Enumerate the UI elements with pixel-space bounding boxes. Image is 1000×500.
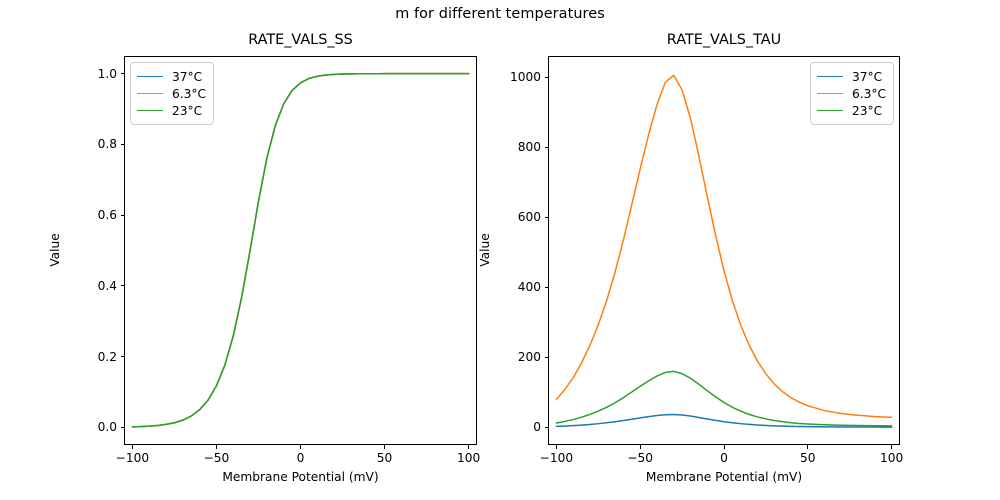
- subplot-title-tau: RATE_VALS_TAU: [548, 32, 900, 48]
- y-tick-mark: [121, 427, 125, 428]
- y-tick-label: 0.8: [74, 137, 117, 151]
- legend-swatch-37c: [137, 76, 163, 77]
- x-tick-label: −100: [116, 451, 149, 465]
- legend-swatch-23c: [817, 110, 843, 111]
- x-tick-label: 0: [720, 451, 728, 465]
- legend-entry: 37°C: [817, 68, 886, 85]
- legend-label-37c: 37°C: [852, 70, 882, 84]
- x-tick-label: 100: [457, 451, 480, 465]
- series-line: [132, 74, 468, 427]
- y-tick-mark: [121, 215, 125, 216]
- axes-rate-vals-ss: RATE_VALS_SS 37°C 6.3°C 23°C: [124, 56, 477, 445]
- y-tick-label: 0: [498, 420, 541, 434]
- xlabel-tau: Membrane Potential (mV): [548, 470, 900, 484]
- y-tick-mark: [121, 285, 125, 286]
- y-tick-mark: [121, 73, 125, 74]
- legend-entry: 23°C: [817, 102, 886, 119]
- y-tick-mark: [545, 147, 549, 148]
- x-tick-label: −100: [540, 451, 573, 465]
- y-tick-mark: [545, 427, 549, 428]
- legend-label-37c: 37°C: [172, 70, 202, 84]
- x-tick-mark: [891, 445, 892, 449]
- y-tick-label: 0.6: [74, 208, 117, 222]
- x-tick-mark: [384, 445, 385, 449]
- legend-label-6-3c: 6.3°C: [172, 87, 206, 101]
- y-tick-mark: [545, 217, 549, 218]
- legend-label-23c: 23°C: [852, 104, 882, 118]
- x-tick-label: −50: [627, 451, 653, 465]
- legend-tau[interactable]: 37°C 6.3°C 23°C: [810, 62, 894, 125]
- legend-label-23c: 23°C: [172, 104, 202, 118]
- y-tick-label: 400: [498, 280, 541, 294]
- y-tick-label: 0.4: [74, 279, 117, 293]
- y-tick-mark: [545, 287, 549, 288]
- x-tick-label: −50: [204, 451, 230, 465]
- ylabel-tau: Value: [478, 190, 492, 310]
- x-tick-label: 50: [377, 451, 393, 465]
- legend-entry: 37°C: [137, 68, 206, 85]
- x-tick-label: 0: [297, 451, 305, 465]
- y-tick-label: 800: [498, 140, 541, 154]
- subplot-title-ss: RATE_VALS_SS: [124, 32, 477, 48]
- series-line: [556, 75, 891, 417]
- ylabel-ss: Value: [48, 190, 62, 310]
- x-tick-label: 50: [800, 451, 816, 465]
- x-tick-mark: [132, 445, 133, 449]
- y-tick-label: 600: [498, 210, 541, 224]
- legend-entry: 6.3°C: [817, 85, 886, 102]
- legend-swatch-6-3c: [817, 93, 843, 94]
- y-tick-mark: [545, 77, 549, 78]
- y-tick-mark: [121, 356, 125, 357]
- legend-label-6-3c: 6.3°C: [852, 87, 886, 101]
- legend-entry: 6.3°C: [137, 85, 206, 102]
- legend-ss[interactable]: 37°C 6.3°C 23°C: [130, 62, 214, 125]
- x-tick-label: 100: [880, 451, 903, 465]
- y-tick-label: 1000: [498, 70, 541, 84]
- y-tick-label: 0.0: [74, 420, 117, 434]
- series-line: [132, 74, 468, 427]
- xlabel-ss: Membrane Potential (mV): [124, 470, 477, 484]
- x-tick-mark: [468, 445, 469, 449]
- y-tick-label: 200: [498, 350, 541, 364]
- legend-swatch-37c: [817, 76, 843, 77]
- y-tick-mark: [545, 357, 549, 358]
- x-tick-mark: [640, 445, 641, 449]
- axes-rate-vals-tau: RATE_VALS_TAU 37°C 6.3°C 23°C: [548, 56, 900, 445]
- matplotlib-figure: m for different temperatures RATE_VALS_S…: [0, 0, 1000, 500]
- figure-suptitle: m for different temperatures: [0, 6, 1000, 22]
- x-tick-mark: [216, 445, 217, 449]
- y-tick-label: 1.0: [74, 67, 117, 81]
- legend-swatch-23c: [137, 110, 163, 111]
- legend-entry: 23°C: [137, 102, 206, 119]
- x-tick-mark: [807, 445, 808, 449]
- x-tick-mark: [724, 445, 725, 449]
- x-tick-mark: [300, 445, 301, 449]
- y-tick-mark: [121, 144, 125, 145]
- y-tick-label: 0.2: [74, 350, 117, 364]
- legend-swatch-6-3c: [137, 93, 163, 94]
- x-tick-mark: [556, 445, 557, 449]
- series-line: [556, 371, 891, 425]
- series-line: [132, 74, 468, 427]
